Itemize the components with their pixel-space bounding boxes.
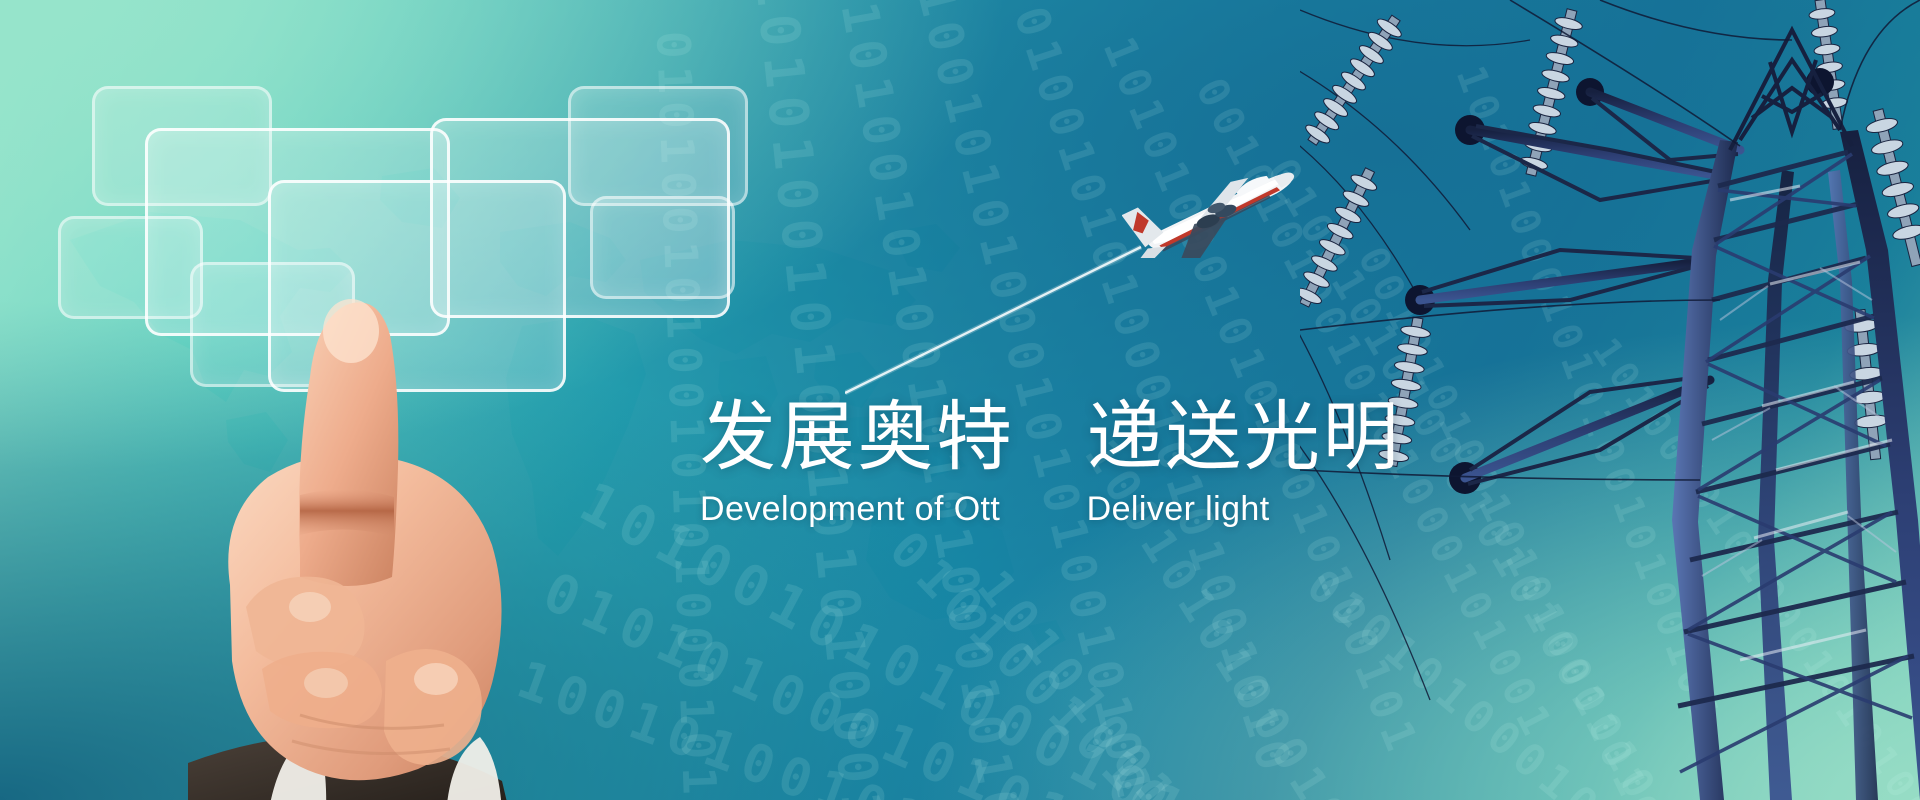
headline-block-1: 发展奥特 Development of Ott xyxy=(700,398,1015,529)
touch-panel[interactable] xyxy=(590,196,735,299)
headline-cn-1: 发展奥特 xyxy=(700,398,1015,476)
airliner xyxy=(1122,168,1312,258)
headline-block-2: 递送光明 Deliver light xyxy=(1087,398,1402,529)
promotional-banner: 10101001010010101000101 0101001010010101… xyxy=(0,0,1920,800)
pointing-hand xyxy=(150,255,570,800)
headline-en-2: Deliver light xyxy=(1087,490,1402,529)
headline-en-1: Development of Ott xyxy=(700,490,1015,529)
headline-group: 发展奥特 Development of Ott 递送光明 Deliver lig… xyxy=(700,398,1401,529)
airplane-contrail xyxy=(845,245,1145,395)
touch-panel[interactable] xyxy=(568,86,748,206)
headline-cn-2: 递送光明 xyxy=(1087,398,1402,476)
